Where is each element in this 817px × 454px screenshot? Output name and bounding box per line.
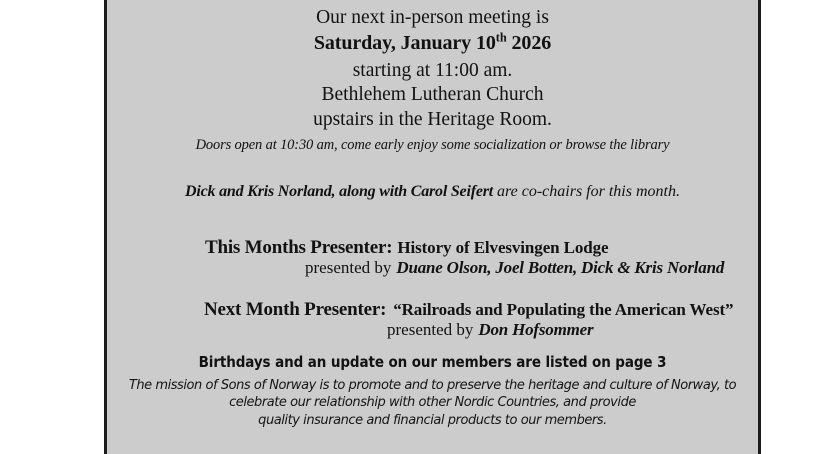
cochair-names: Dick and Kris Norland, along with Carol … xyxy=(185,183,493,200)
notice-content: Our next in-person meeting is Saturday, … xyxy=(107,0,758,454)
meeting-notice-panel: Our next in-person meeting is Saturday, … xyxy=(104,0,761,454)
cochair-suffix: are co-chairs for this month. xyxy=(493,183,680,200)
meeting-date-prefix: Saturday, January 10 xyxy=(314,32,496,54)
this-month-title: History of Elvesvingen Lodge xyxy=(392,238,608,257)
meeting-room-line: upstairs in the Heritage Room. xyxy=(107,110,758,130)
doors-open-line: Doors open at 10:30 am, come early enjoy… xyxy=(107,138,758,153)
next-month-presented-by-label: presented by xyxy=(387,320,473,339)
next-month-presenters: Don Hofsommer xyxy=(473,320,593,339)
meeting-venue-line: Bethlehem Lutheran Church xyxy=(107,85,758,105)
this-month-presented-by-line: presented byDuane Olson, Joel Botten, Di… xyxy=(305,259,724,277)
this-month-heading: This Months Presenter: xyxy=(205,237,392,258)
meeting-date-ordinal: th xyxy=(496,30,507,44)
mission-line-1: The mission of Sons of Norway is to prom… xyxy=(107,379,758,392)
next-month-presenter-line: Next Month Presenter:“Railroads and Popu… xyxy=(204,300,733,319)
meeting-intro-line: Our next in-person meeting is xyxy=(107,8,758,28)
next-month-presented-by-line: presented byDon Hofsommer xyxy=(387,321,593,339)
meeting-time-line: starting at 11:00 am. xyxy=(107,61,758,81)
meeting-date-line: Saturday, January 10th 2026 xyxy=(107,33,758,53)
this-month-presenters: Duane Olson, Joel Botten, Dick & Kris No… xyxy=(391,258,724,277)
next-month-title: “Railroads and Populating the American W… xyxy=(386,300,733,319)
next-month-heading: Next Month Presenter: xyxy=(204,299,386,320)
mission-line-2: celebrate our relationship with other No… xyxy=(107,396,758,409)
mission-line-3: quality insurance and financial products… xyxy=(107,414,758,427)
meeting-date-year: 2026 xyxy=(507,32,552,54)
this-month-presented-by-label: presented by xyxy=(305,258,391,277)
this-month-presenter-line: This Months Presenter:History of Elvesvi… xyxy=(205,238,608,257)
page-root: Our next in-person meeting is Saturday, … xyxy=(0,0,817,454)
cochairs-line: Dick and Kris Norland, along with Carol … xyxy=(107,184,758,200)
birthdays-note-line: Birthdays and an update on our members a… xyxy=(107,355,758,370)
